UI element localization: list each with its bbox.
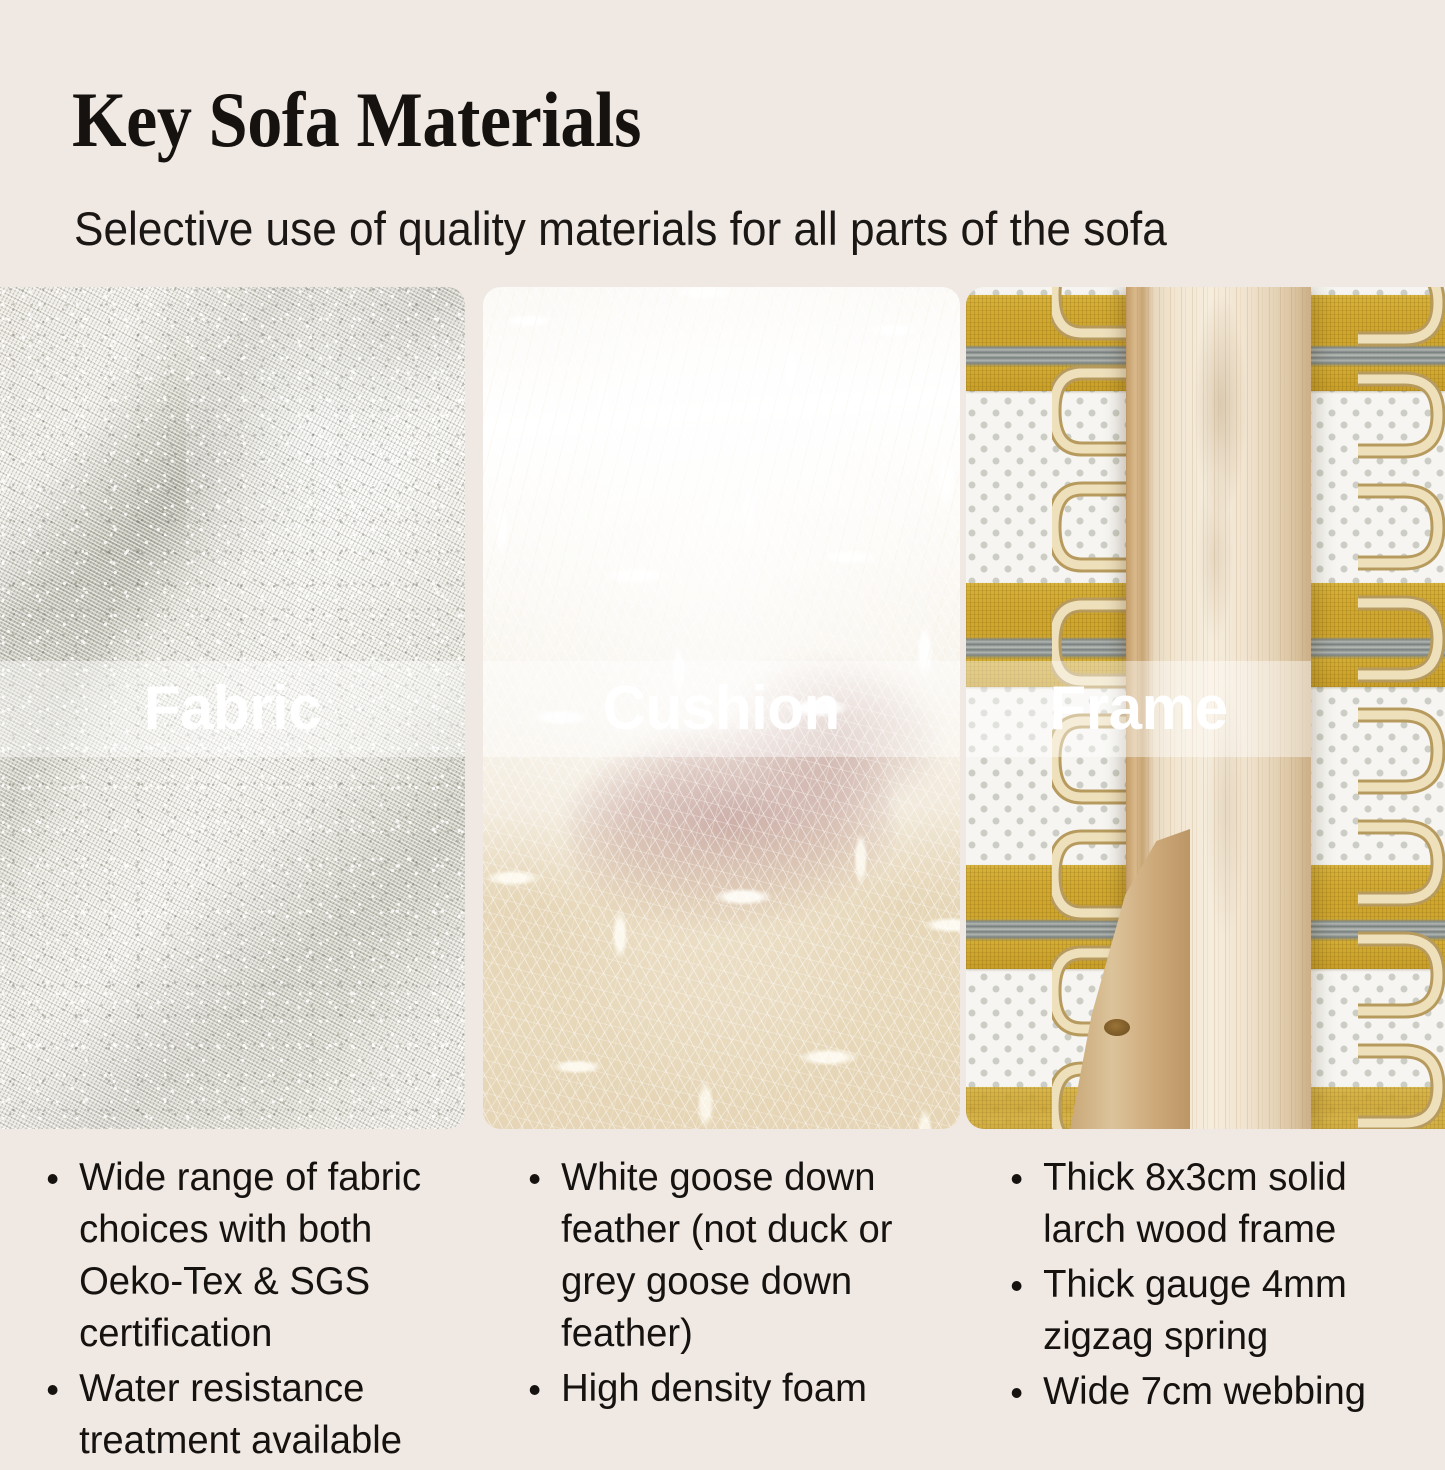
fabric-label-band: Fabric xyxy=(0,661,465,757)
bullets-fabric: Wide range of fabric choices with both O… xyxy=(34,1152,482,1470)
list-item: White goose down feather (not duck or gr… xyxy=(516,1152,955,1360)
list-item: Wide range of fabric choices with both O… xyxy=(34,1152,473,1360)
knot-eye xyxy=(1104,1019,1130,1036)
list-item: Thick 8x3cm solid larch wood frame xyxy=(998,1152,1429,1256)
page-title: Key Sofa Materials xyxy=(72,72,641,168)
list-item: Thick gauge 4mm zigzag spring xyxy=(998,1259,1429,1363)
bullet-list: Wide range of fabric choices with both O… xyxy=(34,1152,482,1467)
material-panels: Fabric Cushion xyxy=(0,287,1445,1129)
bullet-list: White goose down feather (not duck or gr… xyxy=(516,1152,964,1415)
frame-label-band: Frame xyxy=(966,661,1311,757)
bullets-cushion: White goose down feather (not duck or gr… xyxy=(516,1152,964,1418)
fabric-label-text: Fabric xyxy=(144,678,322,740)
zigzag-spring-right xyxy=(1358,287,1445,1129)
cushion-label-text: Cushion xyxy=(603,678,840,740)
page-subtitle: Selective use of quality materials for a… xyxy=(74,198,1167,260)
panel-frame: Frame xyxy=(966,287,1445,1129)
bullet-list: Thick 8x3cm solid larch wood frame Thick… xyxy=(998,1152,1438,1418)
list-item: Wide 7cm webbing xyxy=(998,1366,1429,1418)
cushion-label-band: Cushion xyxy=(483,661,960,757)
bullets-frame: Thick 8x3cm solid larch wood frame Thick… xyxy=(998,1152,1438,1421)
panel-fabric: Fabric xyxy=(0,287,465,1129)
bullet-columns: Wide range of fabric choices with both O… xyxy=(0,1152,1445,1445)
frame-label-text: Frame xyxy=(971,678,1306,740)
list-item: High density foam xyxy=(516,1363,955,1415)
panel-cushion: Cushion xyxy=(483,287,960,1129)
list-item: Water resistance treatment available xyxy=(34,1363,473,1467)
infographic-page: Key Sofa Materials Selective use of qual… xyxy=(0,0,1445,1445)
